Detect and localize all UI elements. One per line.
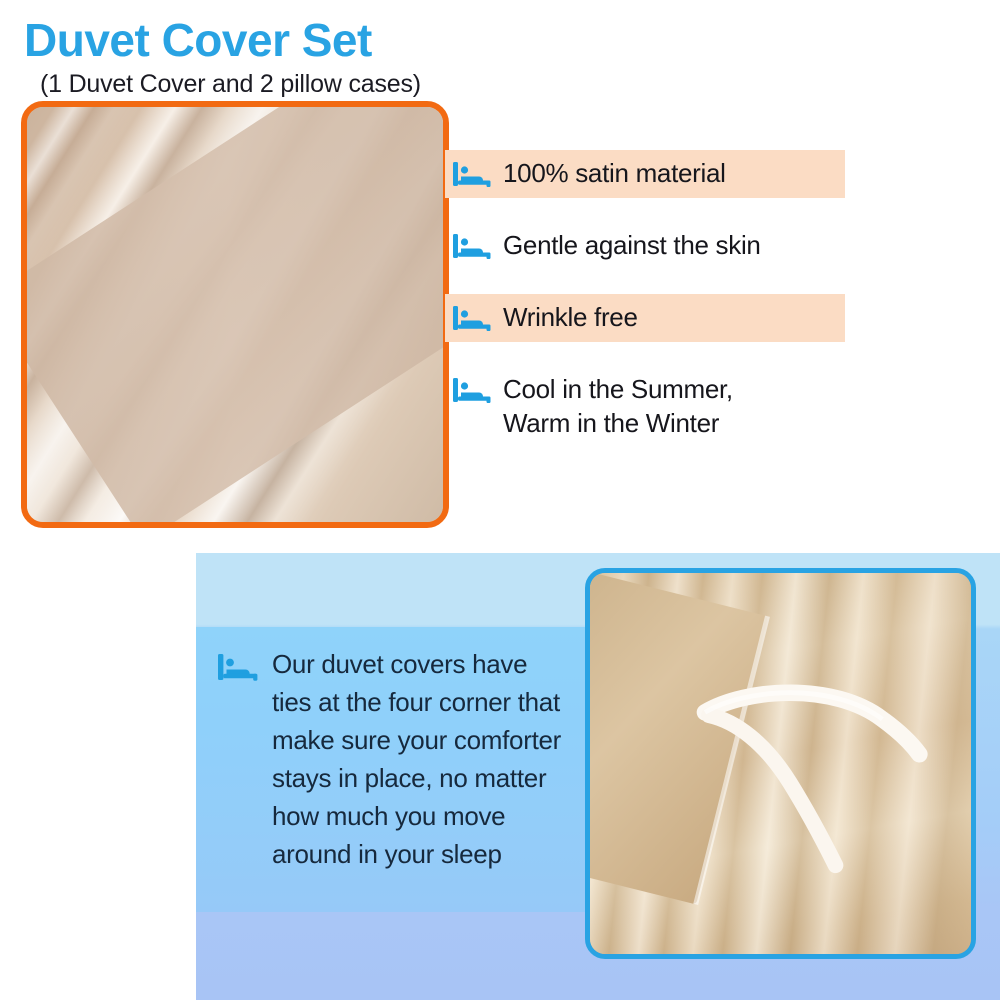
satin-fabric-photo <box>21 101 449 528</box>
bottom-panel: Our duvet covers have ties at the four c… <box>196 553 1000 1000</box>
bottom-description: Our duvet covers have ties at the four c… <box>272 645 572 873</box>
feature-label: Cool in the Summer, Warm in the Winter <box>503 371 733 440</box>
bed-icon <box>453 160 493 188</box>
feature-item-wrinkle-free: Wrinkle free <box>445 294 845 342</box>
ribbon-ties <box>590 573 971 954</box>
feature-item-cool-warm: Cool in the Summer, Warm in the Winter <box>445 366 845 450</box>
bed-icon <box>453 304 493 332</box>
row-spacer <box>445 270 845 294</box>
feature-list: 100% satin material Gentle against the s… <box>445 150 845 450</box>
bed-icon <box>453 232 493 260</box>
feature-label: Wrinkle free <box>503 299 638 334</box>
infographic-page: Duvet Cover Set (1 Duvet Cover and 2 pil… <box>0 0 1000 1000</box>
page-title: Duvet Cover Set <box>24 16 372 64</box>
feature-item-satin-material: 100% satin material <box>445 150 845 198</box>
row-spacer <box>445 198 845 222</box>
bed-icon <box>218 652 260 682</box>
bed-icon <box>453 376 493 404</box>
feature-label: 100% satin material <box>503 155 726 190</box>
feature-label: Gentle against the skin <box>503 227 761 262</box>
feature-item-gentle-skin: Gentle against the skin <box>445 222 845 270</box>
duvet-ties-photo <box>585 568 976 959</box>
row-spacer <box>445 342 845 366</box>
page-subtitle: (1 Duvet Cover and 2 pillow cases) <box>40 70 421 99</box>
satin-texture <box>27 107 443 522</box>
